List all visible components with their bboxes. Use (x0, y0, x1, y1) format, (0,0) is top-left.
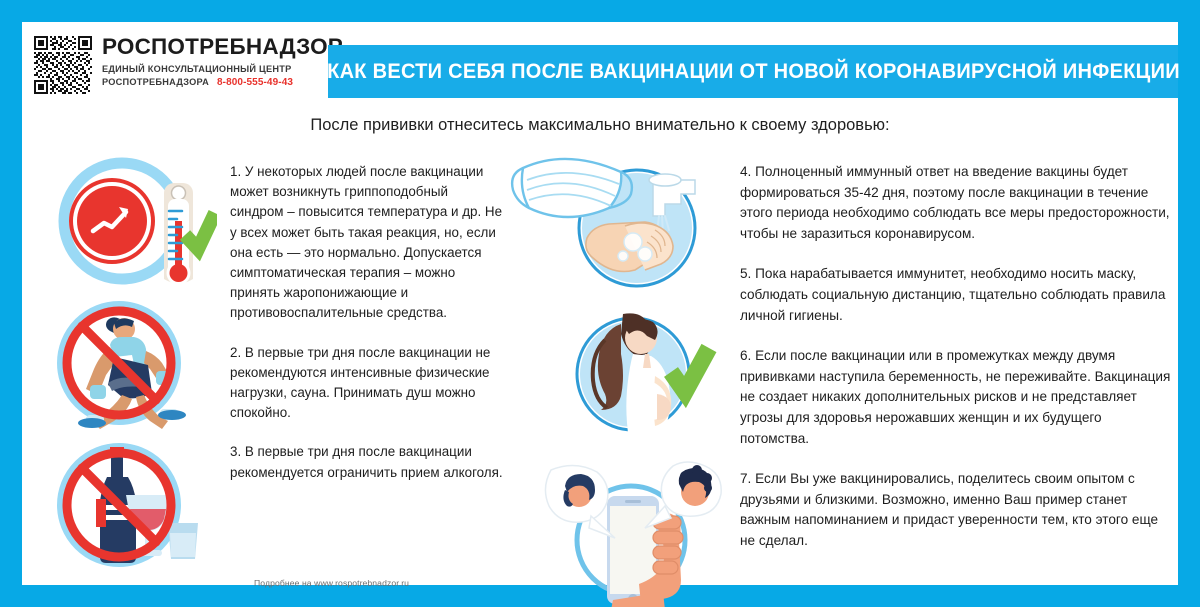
thermometer-fever-icon (52, 155, 217, 287)
title-banner: КАК ВЕСТИ СЕБЯ ПОСЛЕ ВАКЦИНАЦИИ ОТ НОВОЙ… (328, 45, 1178, 98)
middle-icon-column (505, 150, 755, 607)
infographic-poster: РОСПОТРЕБНАДЗОР ЕДИНЫЙ КОНСУЛЬТАЦИОННЫЙ … (0, 0, 1200, 607)
tip-item-5: 5. Пока нарабатывается иммунитет, необхо… (740, 264, 1172, 326)
more-info-footnote: Подробнее на www.rospotrebnadzor.ru (254, 578, 409, 588)
tip-item-1: 1. У некоторых людей после вакцинации мо… (230, 162, 505, 324)
left-text-column: 1. У некоторых людей после вакцинации мо… (230, 162, 505, 502)
banner-title-text: КАК ВЕСТИ СЕБЯ ПОСЛЕ ВАКЦИНАЦИИ ОТ НОВОЙ… (327, 59, 1180, 84)
no-running-icon (52, 297, 217, 429)
qr-code-icon (34, 36, 92, 94)
consultation-center-line2-row: РОСПОТРЕБНАДЗОРА 8-800-555-49-43 (102, 76, 324, 89)
pregnancy-approved-icon (505, 310, 755, 450)
left-icon-column (52, 155, 217, 571)
tip-item-7: 7. Если Вы уже вакцинировались, поделите… (740, 469, 1172, 551)
share-experience-phone-icon (505, 460, 755, 607)
poster-header: РОСПОТРЕБНАДЗОР ЕДИНЫЙ КОНСУЛЬТАЦИОННЫЙ … (22, 22, 1178, 104)
poster-subtitle: После прививки отнеситесь максимально вн… (22, 116, 1178, 135)
mask-and-handwashing-icon (505, 150, 755, 300)
logo-text-block: РОСПОТРЕБНАДЗОР ЕДИНЫЙ КОНСУЛЬТАЦИОННЫЙ … (102, 34, 324, 89)
right-text-column: 4. Полноценный иммунный ответ на введени… (740, 162, 1172, 572)
hotline-phone-number: 8-800-555-49-43 (217, 76, 293, 89)
no-alcohol-icon (52, 439, 217, 571)
tip-item-2: 2. В первые три дня после вакцинации не … (230, 343, 505, 424)
tip-item-4: 4. Полноценный иммунный ответ на введени… (740, 162, 1172, 244)
organization-name: РОСПОТРЕБНАДЗОР (102, 34, 324, 59)
poster-body: 1. У некоторых людей после вакцинации мо… (22, 150, 1178, 585)
tip-item-3: 3. В первые три дня после вакцинации рек… (230, 442, 505, 482)
tip-item-6: 6. Если после вакцинации или в промежутк… (740, 346, 1172, 449)
consultation-center-line2: РОСПОТРЕБНАДЗОРА (102, 76, 209, 89)
poster-content-area: РОСПОТРЕБНАДЗОР ЕДИНЫЙ КОНСУЛЬТАЦИОННЫЙ … (22, 22, 1178, 585)
consultation-center-line1: ЕДИНЫЙ КОНСУЛЬТАЦИОННЫЙ ЦЕНТР (102, 63, 324, 76)
rospotrebnadzor-logo: РОСПОТРЕБНАДЗОР ЕДИНЫЙ КОНСУЛЬТАЦИОННЫЙ … (34, 34, 324, 100)
